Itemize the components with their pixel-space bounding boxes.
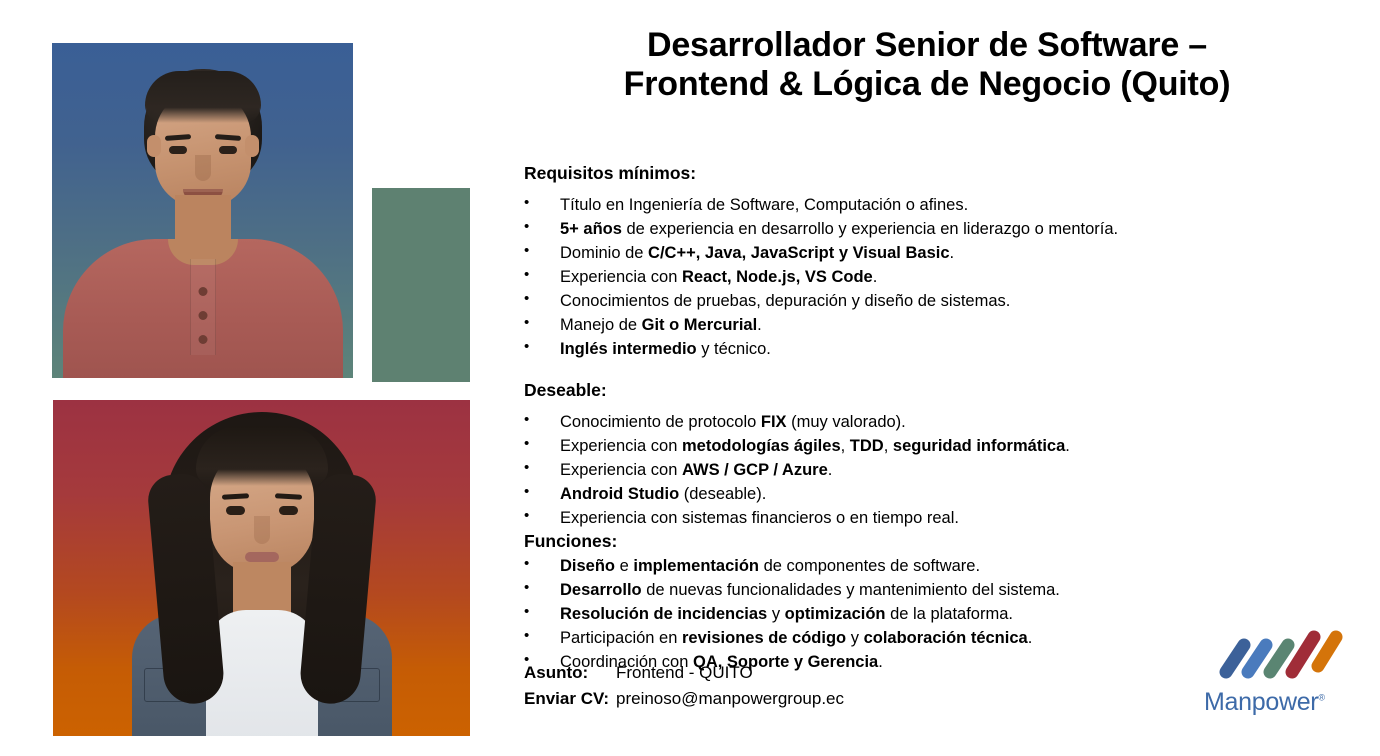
portrait-woman-photo — [53, 400, 470, 736]
list-item: Dominio de C/C++, Java, JavaScript y Vis… — [524, 241, 1324, 265]
woman-fringe-icon — [196, 426, 328, 486]
man-nose-icon — [195, 155, 211, 181]
manpower-wordmark-text: Manpower — [1204, 688, 1318, 716]
contact-subject-value: Frontend - QUITO — [616, 660, 753, 686]
man-figure — [52, 43, 353, 378]
logo-bar-2 — [1248, 645, 1266, 672]
list-item: Conocimiento de protocolo FIX (muy valor… — [524, 410, 1324, 434]
list-item: Inglés intermedio y técnico. — [524, 337, 1324, 361]
list-item: Android Studio (deseable). — [524, 482, 1324, 506]
manpower-wordmark: Manpower® — [1204, 688, 1325, 717]
man-eye-right-icon — [219, 146, 237, 154]
contact-subject-label: Asunto: — [524, 660, 616, 686]
list-item: Experiencia con AWS / GCP / Azure. — [524, 458, 1324, 482]
slide-root: Desarrollador Senior de Software – Front… — [0, 0, 1380, 756]
list-item: Experiencia con React, Node.js, VS Code. — [524, 265, 1324, 289]
manpower-logo-bars-icon — [1214, 628, 1344, 678]
registered-mark-icon: ® — [1318, 693, 1324, 703]
list-item: 5+ años de experiencia en desarrollo y e… — [524, 217, 1324, 241]
page-title: Desarrollador Senior de Software – Front… — [512, 26, 1342, 105]
manpower-logo: Manpower® — [1196, 628, 1346, 728]
list-item: Manejo de Git o Mercurial. — [524, 313, 1324, 337]
job-description-body: Requisitos mínimos: Título en Ingeniería… — [524, 162, 1324, 674]
man-ear-right-icon — [245, 135, 259, 157]
page-title-line-1: Desarrollador Senior de Software – — [512, 26, 1342, 65]
man-button-3-icon — [198, 335, 207, 344]
manpower-mark-svg — [1214, 628, 1344, 680]
contact-cv-row: Enviar CV: preinoso@manpowergroup.ec — [524, 686, 844, 712]
list-item: Experiencia con sistemas financieros o e… — [524, 506, 1324, 530]
man-button-1-icon — [198, 287, 207, 296]
logo-bar-5 — [1318, 637, 1336, 666]
page-title-line-2: Frontend & Lógica de Negocio (Quito) — [512, 65, 1342, 104]
woman-mouth-icon — [245, 552, 279, 562]
contact-block: Asunto: Frontend - QUITO Enviar CV: prei… — [524, 660, 844, 711]
logo-bar-group — [1226, 637, 1336, 672]
list-item: Desarrollo de nuevas funcionalidades y m… — [524, 578, 1324, 602]
woman-eye-right-icon — [279, 506, 298, 515]
logo-bar-3 — [1270, 645, 1288, 672]
woman-eye-left-icon — [226, 506, 245, 515]
list-item: Resolución de incidencias y optimización… — [524, 602, 1324, 626]
list-item: Diseño e implementación de componentes d… — [524, 554, 1324, 578]
contact-cv-label: Enviar CV: — [524, 686, 616, 712]
man-ear-left-icon — [147, 135, 161, 157]
list-item: Experiencia con metodologías ágiles, TDD… — [524, 434, 1324, 458]
logo-bar-1 — [1226, 645, 1244, 672]
list-requisitos: Título en Ingeniería de Software, Comput… — [524, 193, 1324, 362]
contact-subject-row: Asunto: Frontend - QUITO — [524, 660, 844, 686]
list-item: Título en Ingeniería de Software, Comput… — [524, 193, 1324, 217]
woman-nose-icon — [254, 516, 270, 544]
man-button-2-icon — [198, 311, 207, 320]
woman-figure — [53, 400, 470, 736]
section-heading-deseable: Deseable: — [524, 379, 1324, 403]
green-accent-block — [372, 188, 470, 382]
section-heading-funciones: Funciones: — [524, 530, 1324, 554]
logo-bar-4 — [1292, 637, 1314, 672]
man-eye-left-icon — [169, 146, 187, 154]
list-item: Conocimientos de pruebas, depuración y d… — [524, 289, 1324, 313]
section-heading-requisitos: Requisitos mínimos: — [524, 162, 1324, 186]
portrait-man-photo — [52, 43, 353, 378]
man-fringe-icon — [145, 71, 261, 123]
list-deseable: Conocimiento de protocolo FIX (muy valor… — [524, 410, 1324, 530]
contact-cv-email[interactable]: preinoso@manpowergroup.ec — [616, 686, 844, 712]
